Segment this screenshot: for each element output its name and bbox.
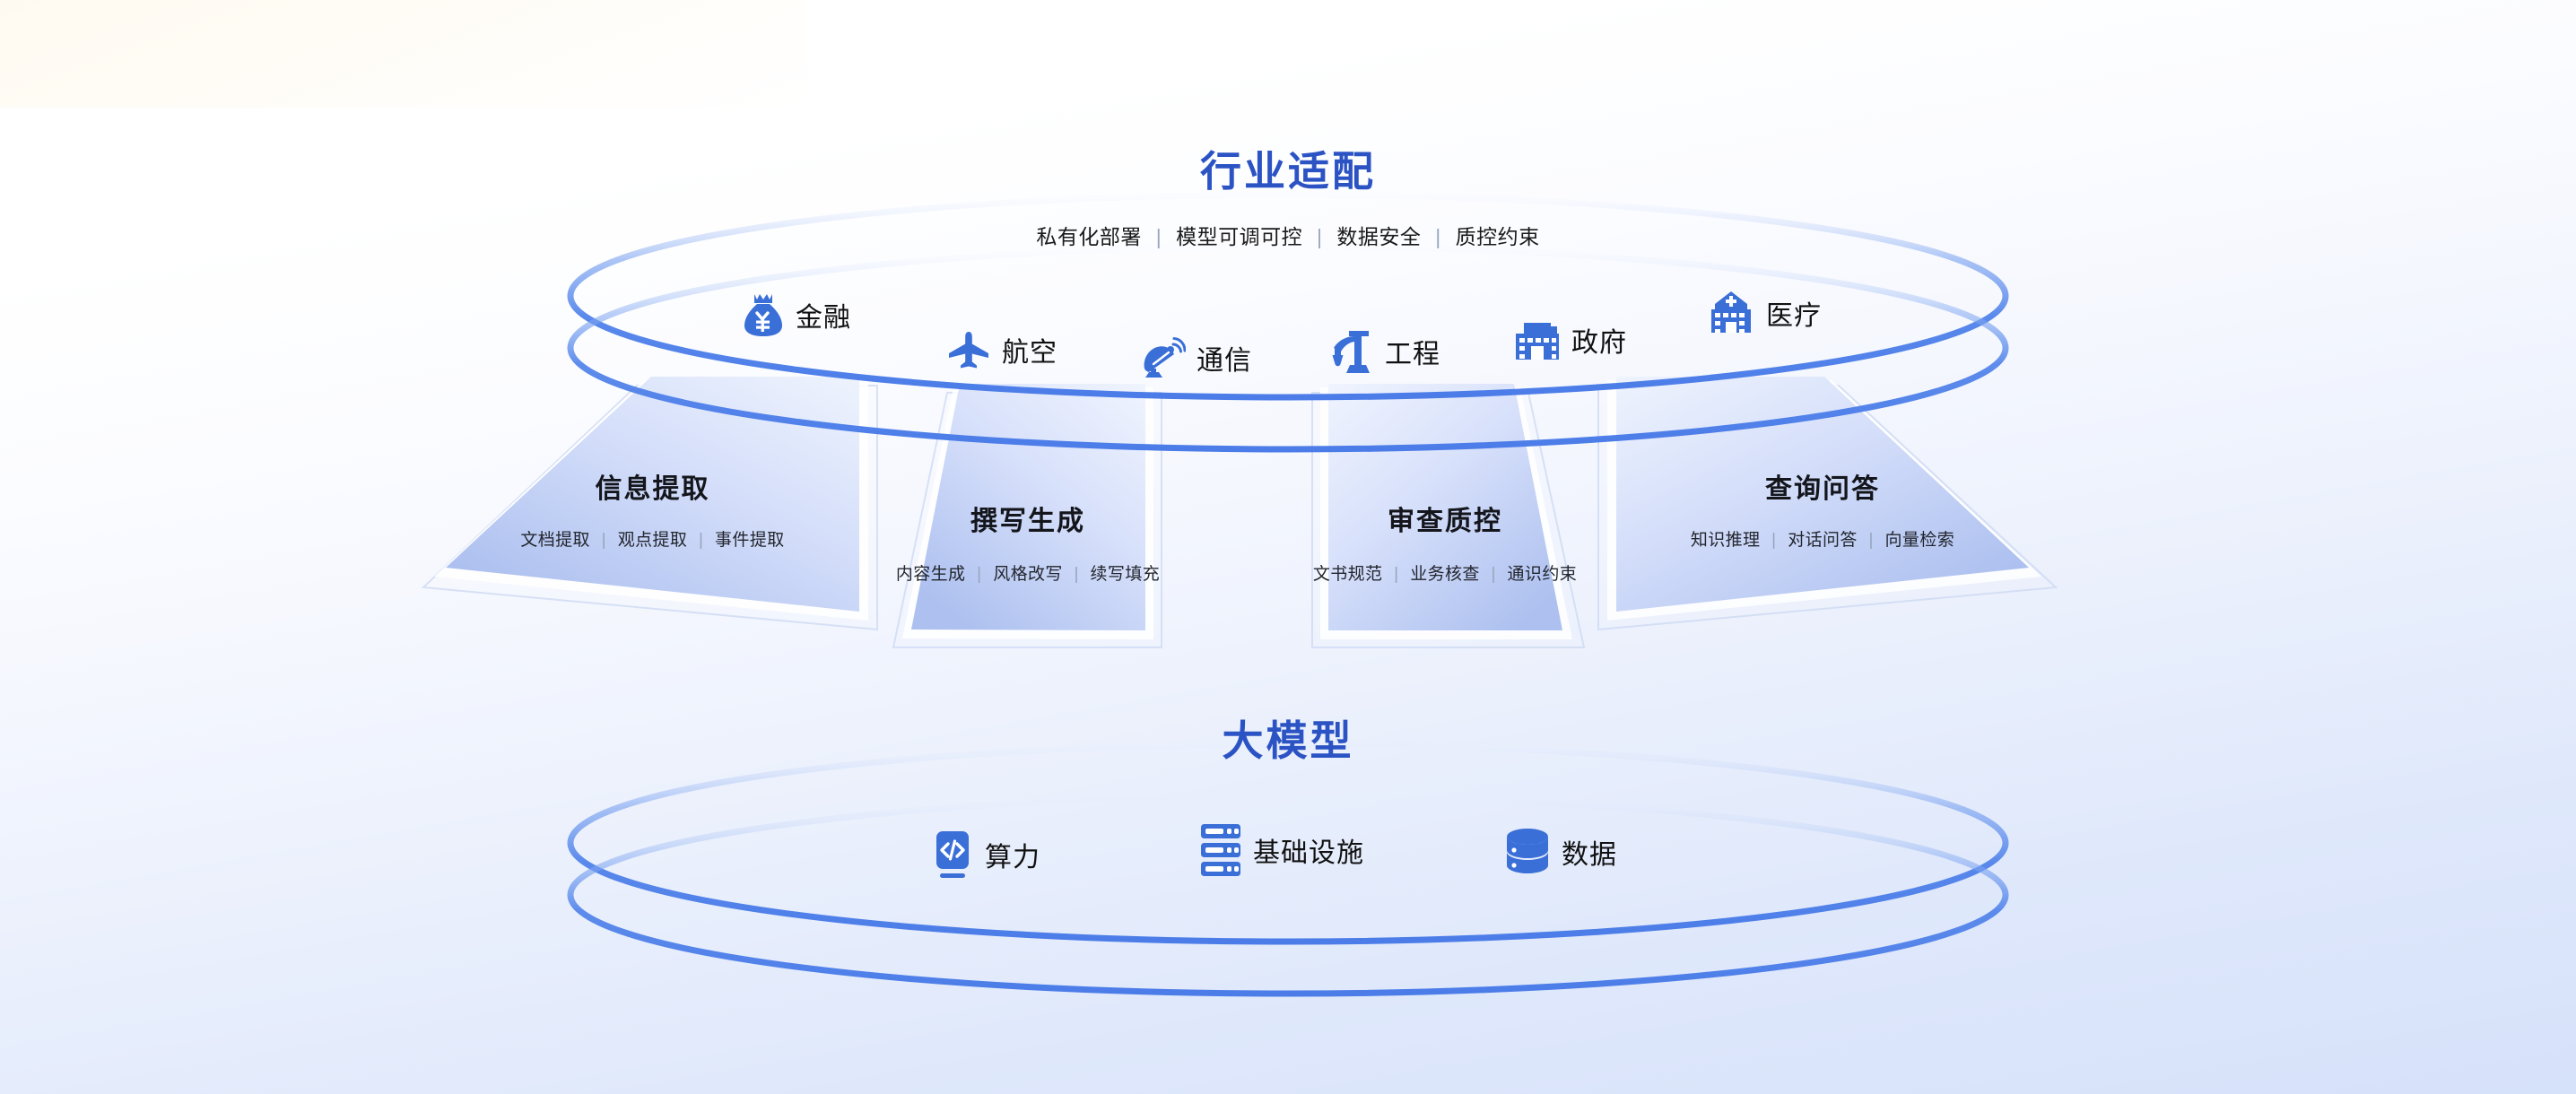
panel-title: 审查质控	[1252, 499, 1638, 538]
industry-label: 航空	[1002, 330, 1057, 369]
panel-subitem: 业务核查	[1410, 565, 1480, 584]
panel-subitems: 知识推理 | 对话问答 | 向量检索	[1616, 526, 2029, 551]
panel-separator: |	[1771, 531, 1776, 550]
panel-subitem: 事件提取	[715, 531, 785, 550]
subtitle-separator: |	[1156, 225, 1162, 248]
industry-label: 政府	[1571, 320, 1627, 360]
capability-panel-review-quality-control[interactable]: 审查质控 文书规范 | 业务核查 | 通识约束	[1328, 384, 1562, 630]
panel-subitem: 观点提取	[618, 531, 688, 550]
panel-separator: |	[602, 531, 606, 550]
industry-item-communication[interactable]: 通信	[1141, 336, 1252, 379]
money-bag-yuan-icon	[742, 291, 785, 338]
diagram-stage: 行业适配 私有化部署 | 模型可调可控 | 数据安全 | 质控约束 金融 航空	[0, 0, 2576, 1094]
panel-subitem: 文书规范	[1313, 565, 1383, 584]
hospital-cross-icon	[1707, 290, 1755, 336]
subtitle-item: 数据安全	[1336, 225, 1421, 248]
industry-item-government[interactable]: 政府	[1514, 318, 1627, 361]
foundation-item-infrastructure[interactable]: 基础设施	[1199, 822, 1364, 878]
panel-subitem: 通识约束	[1508, 565, 1578, 584]
panel-subitem: 风格改写	[993, 565, 1063, 584]
industry-item-healthcare[interactable]: 医疗	[1707, 290, 1822, 336]
foundation-item-data[interactable]: 数据	[1504, 827, 1617, 877]
panel-subitem: 文档提取	[520, 531, 590, 550]
airplane-icon	[946, 330, 991, 369]
foundation-label: 基础设施	[1253, 830, 1364, 870]
panel-title: 查询问答	[1616, 466, 2029, 506]
panel-separator: |	[1394, 565, 1398, 584]
panel-subitem: 续写填充	[1091, 565, 1161, 584]
bottom-section-title: 大模型	[0, 708, 2576, 768]
subtitle-separator: |	[1317, 225, 1322, 248]
government-building-icon	[1514, 318, 1561, 361]
subtitle-separator: |	[1435, 225, 1440, 248]
panel-subitem: 对话问答	[1788, 531, 1858, 550]
code-chip-icon	[931, 829, 974, 880]
industry-label: 通信	[1197, 338, 1252, 378]
panel-separator: |	[699, 531, 703, 550]
satellite-dish-icon	[1141, 336, 1186, 379]
panel-separator: |	[977, 565, 981, 584]
industry-item-engineering[interactable]: 工程	[1329, 328, 1440, 375]
panel-separator: |	[1074, 565, 1078, 584]
panel-separator: |	[1868, 531, 1873, 550]
panel-subitem: 内容生成	[896, 565, 966, 584]
capability-panel-query-answering[interactable]: 查询问答 知识推理 | 对话问答 | 向量检索	[1616, 377, 2029, 612]
panel-subitems: 文书规范 | 业务核查 | 通识约束	[1252, 560, 1638, 585]
top-section-title: 行业适配	[0, 139, 2576, 198]
database-icon	[1504, 827, 1551, 877]
panel-separator: |	[1491, 565, 1495, 584]
subtitle-item: 质控约束	[1456, 225, 1540, 248]
capability-panel-writing-generation[interactable]: 撰写生成 内容生成 | 风格改写 | 续写填充	[911, 384, 1145, 630]
crane-icon	[1329, 328, 1374, 375]
panel-subitem: 知识推理	[1691, 531, 1761, 550]
industry-label: 医疗	[1766, 293, 1822, 333]
foundation-label: 算力	[985, 835, 1040, 874]
subtitle-item: 模型可调可控	[1176, 225, 1302, 248]
capability-panel-information-extraction[interactable]: 信息提取 文档提取 | 观点提取 | 事件提取	[446, 377, 859, 612]
server-rack-icon	[1199, 822, 1242, 878]
panel-subitems: 文档提取 | 观点提取 | 事件提取	[446, 526, 859, 551]
subtitle-item: 私有化部署	[1036, 225, 1142, 248]
industry-label: 金融	[796, 295, 851, 334]
foundation-item-compute[interactable]: 算力	[931, 829, 1040, 880]
foundation-label: 数据	[1562, 832, 1617, 872]
industry-label: 工程	[1385, 332, 1440, 371]
panel-subitems: 内容生成 | 风格改写 | 续写填充	[835, 560, 1221, 585]
panel-title: 信息提取	[446, 466, 859, 506]
top-section-subtitle: 私有化部署 | 模型可调可控 | 数据安全 | 质控约束	[0, 220, 2576, 250]
industry-item-finance[interactable]: 金融	[742, 291, 851, 338]
panel-subitem: 向量检索	[1885, 531, 1955, 550]
industry-item-aviation[interactable]: 航空	[946, 330, 1057, 369]
panel-title: 撰写生成	[835, 499, 1221, 538]
